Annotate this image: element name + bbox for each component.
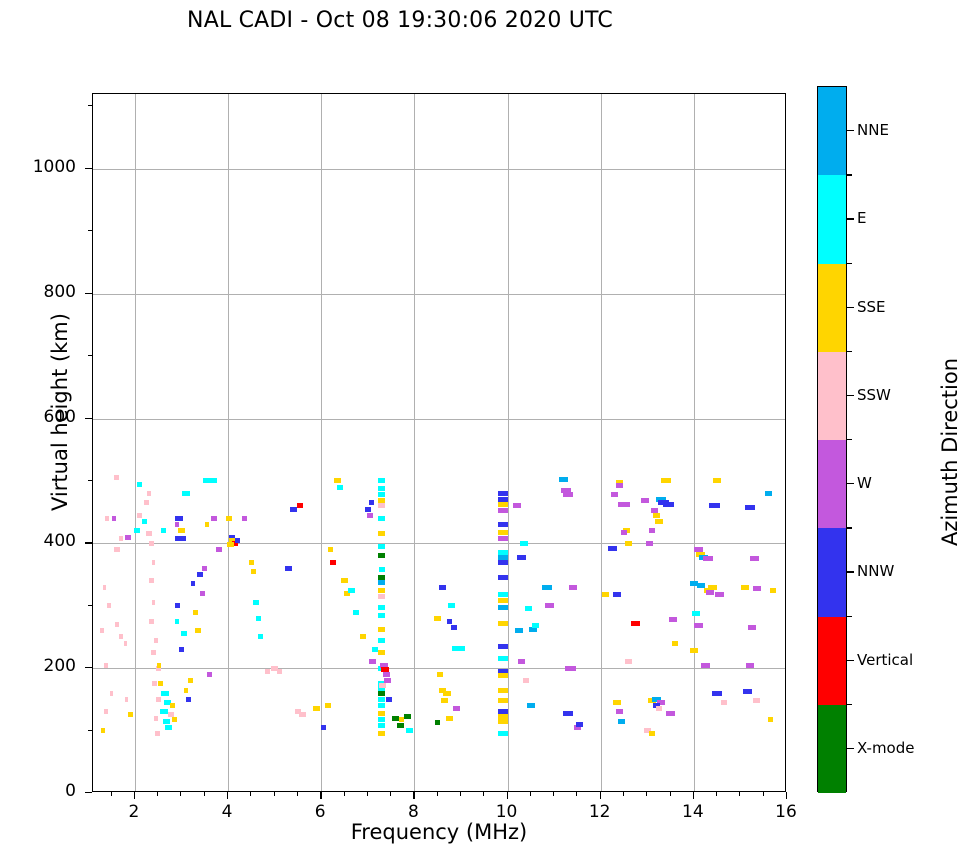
echo-trace-ssw [152,600,156,605]
echo-trace-sse [434,616,441,621]
x-tick-minor [623,792,624,796]
colorbar-boundary-tick [847,527,852,528]
x-tick-minor [274,792,275,796]
echo-trace-e [448,603,455,608]
echo-trace-nnw [365,507,372,512]
echo-trace-w [242,516,248,521]
colorbar-tick [847,218,854,219]
echo-trace-nnw [369,500,375,505]
echo-trace-ssw [379,683,386,688]
x-tick-label: 6 [290,802,350,822]
x-tick-label: 16 [756,802,816,822]
echo-trace-ssw [152,560,156,565]
echo-trace-e [378,478,385,483]
echo-trace-e [520,541,527,546]
y-tick-label: 200 [6,656,76,676]
x-tick-minor [344,792,345,796]
echo-trace-nnw [498,491,508,496]
x-tick-major [227,792,228,799]
echo-trace-w [369,659,376,664]
gridline-vertical [321,94,322,791]
echo-trace-w [175,522,180,527]
y-tick-minor [88,230,92,231]
echo-trace-nnw [235,538,240,543]
x-tick-minor [204,792,205,796]
echo-trace-sse [768,717,774,722]
x-tick-label: 12 [570,802,630,822]
echo-trace-nne [515,628,523,633]
echo-trace-e [378,638,385,643]
echo-trace-x-mode [404,714,411,719]
x-tick-minor [297,792,298,796]
y-tick-major [85,792,92,793]
echo-trace-e [161,691,168,696]
echo-trace-e [163,719,170,724]
echo-trace-ssw [299,712,306,717]
x-tick-minor [483,792,484,796]
echo-trace-w [569,585,577,590]
echo-trace-sse [653,513,660,518]
echo-trace-x-mode [378,691,385,696]
x-tick-major [600,792,601,799]
echo-trace-sse [437,672,444,677]
echo-trace-ssw [149,578,154,583]
echo-trace-w [211,516,217,521]
echo-trace-ssw [151,650,156,655]
y-tick-major [85,542,92,543]
y-tick-label: 1000 [6,157,76,177]
echo-trace-w [703,556,713,561]
echo-trace-sse [625,541,632,546]
colorbar-segment-ssw[interactable] [818,352,846,440]
echo-trace-ssw [378,594,385,599]
echo-trace-ssw [721,700,728,705]
echo-trace-ssw [119,536,124,541]
colorbar-title: Azimuth Direction [938,302,958,602]
echo-trace-e [378,516,385,521]
page-title: NAL CADI - Oct 08 19:30:06 2020 UTC [0,8,800,33]
echo-trace-nnw [451,625,457,630]
echo-trace-w [518,659,525,664]
echo-trace-sse [708,585,716,590]
echo-trace-nnw [743,689,752,694]
echo-trace-e [379,567,386,572]
colorbar-label-sse: SSE [857,298,886,316]
echo-trace-ssw [152,681,157,686]
x-tick-major [786,792,787,799]
echo-trace-sse [328,547,334,552]
colorbar-tick [847,660,854,661]
echo-trace-nnw [613,592,620,597]
echo-trace-sse [170,703,175,708]
echo-trace-e [532,623,539,628]
echo-trace-w [498,508,508,513]
echo-trace-sse [498,698,508,703]
echo-trace-ssw [100,628,104,633]
echo-trace-sse [251,569,256,574]
echo-trace-e [256,616,262,621]
colorbar-segment-x-mode[interactable] [818,705,846,793]
gridline-vertical [601,94,602,791]
echo-trace-w [563,492,573,497]
echo-trace-w [621,530,628,535]
x-tick-minor [646,792,647,796]
echo-trace-nnw [186,697,192,702]
y-tick-minor [88,605,92,606]
echo-trace-sse [378,650,385,655]
echo-trace-ssw [144,500,149,505]
colorbar-tick [847,130,854,131]
echo-trace-sse [498,621,508,626]
echo-trace-ssw [149,541,154,546]
echo-trace-e [253,600,259,605]
echo-trace-e [378,703,385,708]
echo-trace-w [202,566,207,571]
echo-trace-sse [172,717,177,722]
echo-trace-sse [770,588,776,593]
echo-trace-nnw [290,507,297,512]
echo-trace-sse [313,706,320,711]
echo-trace-w [200,591,206,596]
echo-trace-sse [205,522,210,527]
echo-trace-ssw [114,547,120,552]
echo-trace-sse [188,678,193,683]
colorbar-label-ssw: SSW [857,386,891,404]
x-tick-minor [739,792,740,796]
y-tick-minor [88,105,92,106]
echo-trace-sse [443,691,450,696]
echo-trace-e [175,619,180,624]
x-tick-minor [460,792,461,796]
echo-trace-e [160,709,167,714]
colorbar-tick [847,307,854,308]
echo-trace-ssw [265,669,271,674]
echo-trace-sse [249,560,254,565]
echo-trace-vertical [631,621,639,626]
y-tick-major [85,667,92,668]
echo-trace-w [616,483,623,488]
echo-trace-nne [527,703,534,708]
echo-trace-w [715,592,723,597]
echo-trace-e [378,723,385,728]
echo-trace-nnw [709,503,720,508]
echo-trace-w [453,706,460,711]
echo-trace-ssw [147,491,152,496]
echo-trace-nne [542,585,552,590]
echo-trace-nnw [663,502,674,507]
echo-trace-ssw [625,659,632,664]
echo-trace-w [125,535,132,540]
echo-trace-nnw [175,536,185,541]
echo-trace-sse [672,641,679,646]
gridline-vertical [135,94,136,791]
colorbar-segment-vertical[interactable] [818,617,846,705]
y-tick-minor [88,355,92,356]
echo-trace-w [649,528,656,533]
echo-trace-nnw [608,546,616,551]
colorbar-segment-w[interactable] [818,440,846,528]
colorbar-segment-nnw[interactable] [818,528,846,616]
echo-trace-ssw [107,603,111,608]
echo-trace-w [748,625,756,630]
echo-trace-ssw [656,706,663,711]
echo-trace-e [498,656,508,661]
plot-canvas [93,94,785,791]
x-tick-minor [180,792,181,796]
echo-trace-nnw [498,522,508,527]
echo-trace-sse [193,610,198,615]
echo-trace-w [641,498,649,503]
echo-trace-nnw [447,619,453,624]
x-tick-minor [553,792,554,796]
echo-trace-e [378,605,385,610]
gridline-horizontal [93,419,785,420]
gridline-horizontal [93,294,785,295]
echo-trace-nnw [175,516,182,521]
colorbar-label-nne: NNE [857,121,889,139]
echo-trace-x-mode [378,553,385,558]
y-tick-major [85,168,92,169]
echo-trace-sse [498,502,508,507]
colorbar-segment-sse[interactable] [818,264,846,352]
echo-trace-sse [325,703,332,708]
y-tick-label: 0 [6,781,76,801]
echo-trace-w [618,502,630,507]
echo-trace-sse [498,688,508,693]
x-tick-major [134,792,135,799]
echo-trace-sse [341,578,348,583]
echo-trace-nnw [439,585,446,590]
x-tick-label: 4 [197,802,257,822]
echo-trace-sse [226,516,233,521]
echo-trace-e [525,606,532,611]
echo-trace-e [161,528,166,533]
x-tick-label: 14 [663,802,723,822]
echo-trace-e [182,491,189,496]
echo-trace-e [165,725,172,730]
colorbar-boundary-tick [847,174,852,175]
echo-trace-ssw [103,585,107,590]
colorbar-label-w: W [857,474,872,492]
echo-trace-nnw [191,581,196,586]
echo-trace-ssw [523,678,530,683]
echo-trace-e [498,592,508,597]
echo-trace-e [337,485,344,490]
echo-trace-e [378,486,385,491]
echo-trace-w [646,541,653,546]
echo-trace-w [545,603,553,608]
x-tick-minor [576,792,577,796]
echo-trace-w [666,711,674,716]
gridline-vertical [694,94,695,791]
echo-trace-e [378,613,385,618]
echo-trace-sse [227,542,234,547]
echo-trace-sse [157,663,162,668]
x-tick-minor [670,792,671,796]
echo-trace-e [378,492,385,497]
echo-trace-ssw [753,698,760,703]
x-tick-minor [390,792,391,796]
x-axis-title: Frequency (MHz) [92,820,786,844]
x-tick-major [507,792,508,799]
echo-trace-ssw [110,691,114,696]
colorbar-label-e: E [857,209,866,227]
echo-trace-sse [613,700,620,705]
echo-trace-sse [195,628,201,633]
echo-trace-nnw [386,697,393,702]
gridline-horizontal [93,543,785,544]
echo-trace-nnw [745,505,755,510]
y-tick-major [85,293,92,294]
colorbar-label-x-mode: X-mode [857,739,914,757]
echo-trace-nnw [498,644,508,649]
echo-trace-e [378,544,385,549]
echo-trace-nne [559,477,568,482]
echo-trace-nne [498,605,508,610]
x-tick-minor [157,792,158,796]
echo-trace-vertical [330,560,336,565]
echo-trace-nne [765,491,772,496]
echo-trace-w [565,666,576,671]
echo-trace-e [498,731,508,736]
colorbar-boundary-tick [847,351,852,352]
echo-trace-sse [378,627,385,632]
colorbar-tick [847,571,854,572]
echo-trace-w [207,672,213,677]
echo-trace-w [383,672,390,677]
gridline-vertical [414,94,415,791]
echo-trace-ssw [155,731,160,736]
echo-trace-w [706,590,714,595]
echo-trace-w [112,516,117,521]
echo-trace-sse [661,478,670,483]
echo-trace-nne [618,719,625,724]
echo-trace-e [406,728,413,733]
echo-trace-sse [690,648,697,653]
echo-trace-sse [713,478,721,483]
echo-trace-e [134,528,140,533]
gridline-vertical [508,94,509,791]
echo-trace-e [137,482,143,487]
echo-trace-sse [441,698,448,703]
echo-trace-ssw [119,634,124,639]
echo-trace-ssw [104,709,108,714]
echo-trace-ssw [149,619,154,624]
echo-trace-nnw [321,725,327,730]
echo-trace-e [372,647,378,652]
echo-trace-ssw [378,503,385,508]
colorbar-boundary-tick [847,704,852,705]
colorbar-segment-e[interactable] [818,175,846,263]
echo-trace-e [378,717,385,722]
echo-trace-sse [649,731,656,736]
echo-trace-nnw [517,555,525,560]
echo-trace-sse [741,585,748,590]
echo-trace-w [216,547,222,552]
x-tick-minor [437,792,438,796]
echo-trace-w [611,492,618,497]
x-tick-label: 2 [104,802,164,822]
x-tick-label: 8 [383,802,443,822]
echo-trace-sse [498,673,508,678]
colorbar-tick [847,483,854,484]
y-axis-title: Virtual height (km) [48,262,72,562]
echo-trace-e [203,478,217,483]
echo-trace-w [753,586,761,591]
echo-trace-w [701,663,710,668]
echo-trace-x-mode [397,723,404,728]
echo-trace-ssw [146,531,152,536]
echo-trace-e [348,588,355,593]
echo-trace-sse [378,711,385,716]
colorbar-segment-nne[interactable] [818,87,846,175]
echo-trace-w [669,617,676,622]
echo-trace-ssw [125,697,129,702]
echo-trace-ssw [124,641,128,646]
echo-trace-sse [498,598,508,603]
echo-trace-e [353,610,360,615]
echo-trace-sse [158,681,163,686]
echo-trace-ssw [137,513,142,518]
echo-trace-sse [498,719,508,724]
x-tick-major [413,792,414,799]
echo-trace-sse [334,478,341,483]
y-tick-major [85,418,92,419]
echo-trace-ssw [154,638,159,643]
echo-trace-e [142,519,147,524]
x-tick-minor [367,792,368,796]
echo-trace-nnw [498,575,508,580]
echo-trace-nnw [179,647,184,652]
echo-trace-sse [446,716,453,721]
echo-trace-nnw [175,603,180,608]
echo-trace-sse [184,688,189,693]
gridline-vertical [228,94,229,791]
gridline-horizontal [93,668,785,669]
echo-trace-nne [378,580,385,585]
echo-trace-e [258,634,264,639]
y-tick-minor [88,480,92,481]
echo-trace-nnw [576,722,583,727]
echo-trace-e [378,697,385,702]
x-tick-label: 10 [477,802,537,822]
echo-trace-sse [498,530,508,535]
colorbar-tick [847,748,854,749]
x-tick-minor [250,792,251,796]
echo-trace-e [692,611,699,616]
echo-trace-sse [378,731,385,736]
x-tick-minor [716,792,717,796]
echo-trace-sse [378,531,385,536]
echo-trace-ssw [115,622,119,627]
echo-trace-ssw [277,669,283,674]
azimuth-colorbar[interactable] [817,86,847,792]
echo-trace-sse [101,728,105,733]
echo-trace-nnw [712,691,722,696]
echo-trace-nnw [563,711,572,716]
x-tick-minor [763,792,764,796]
echo-trace-w [367,513,374,518]
echo-trace-sse [360,634,366,639]
echo-trace-w [750,556,759,561]
echo-trace-w [746,663,754,668]
echo-trace-ssw [114,475,119,480]
gridline-horizontal [93,169,785,170]
colorbar-boundary-tick [847,439,852,440]
echo-trace-ssw [156,697,161,702]
x-tick-minor [530,792,531,796]
echo-trace-nnw [285,566,292,571]
